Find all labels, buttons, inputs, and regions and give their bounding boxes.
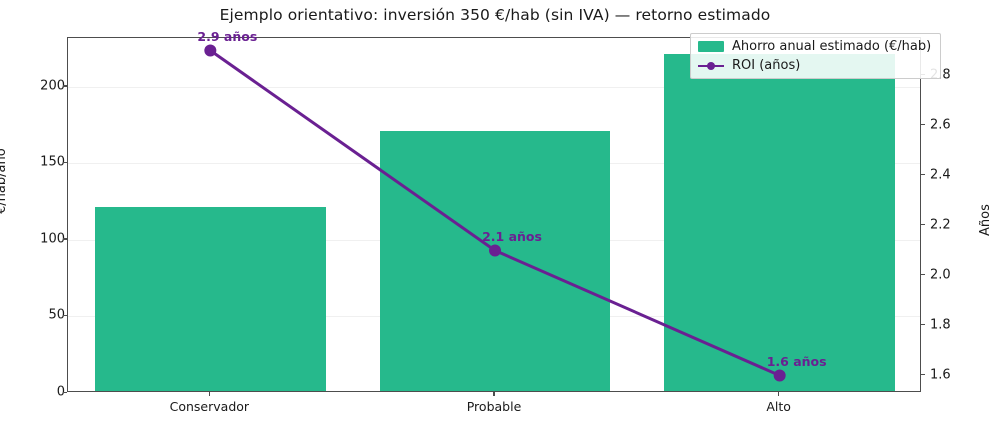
y-axis-left-tick-label: 0	[5, 385, 65, 400]
y-axis-left-tick-mark	[63, 315, 67, 316]
y-axis-left-tick-mark	[63, 85, 67, 86]
x-axis-tick-mark	[209, 392, 210, 396]
legend: Ahorro anual estimado (€/hab) ROI (años)	[690, 33, 941, 79]
x-axis-tick-label: Probable	[467, 399, 522, 414]
roi-annotation: 2.1 años	[482, 229, 542, 244]
y-axis-left-tick-label: 100	[5, 231, 65, 246]
y-axis-left-tick-mark	[63, 238, 67, 239]
legend-item-label: ROI (años)	[732, 58, 800, 73]
y-axis-right-tick-label: 2.6	[930, 117, 980, 132]
x-axis-tick-mark	[778, 392, 779, 396]
legend-item-roi: ROI (años)	[698, 58, 931, 73]
y-axis-right-tick-mark	[921, 324, 925, 325]
y-axis-right-tick-mark	[921, 224, 925, 225]
y-axis-right-tick-label: 2.2	[930, 217, 980, 232]
bar-swatch-icon	[698, 41, 724, 52]
roi-line	[210, 51, 779, 376]
x-axis-tick-mark	[493, 392, 494, 396]
y-axis-left-tick-label: 50	[5, 308, 65, 323]
line-marker-icon	[707, 62, 715, 70]
roi-annotation: 2.9 años	[197, 29, 257, 44]
y-axis-left-tick-mark	[63, 162, 67, 163]
x-axis-tick-label: Alto	[766, 399, 791, 414]
y-axis-left-tick-mark	[63, 392, 67, 393]
y-axis-right-tick-mark	[921, 124, 925, 125]
y-axis-left-label: €/hab/año	[0, 148, 9, 214]
y-axis-right-label: Años	[978, 204, 990, 236]
y-axis-right-tick-mark	[921, 274, 925, 275]
y-axis-right-tick-label: 1.6	[930, 367, 980, 382]
legend-item-label: Ahorro anual estimado (€/hab)	[732, 39, 931, 54]
y-axis-right-tick-label: 1.8	[930, 317, 980, 332]
roi-marker	[204, 45, 216, 57]
y-axis-left-tick-label: 150	[5, 155, 65, 170]
y-axis-right-tick-mark	[921, 374, 925, 375]
line-marker-swatch-icon	[698, 60, 724, 71]
y-axis-right-tick-mark	[921, 174, 925, 175]
legend-item-ahorro: Ahorro anual estimado (€/hab)	[698, 39, 931, 54]
y-axis-left-tick-label: 200	[5, 78, 65, 93]
roi-marker	[774, 370, 786, 382]
y-axis-right-tick-label: 2.4	[930, 167, 980, 182]
chart-figure: Ejemplo orientativo: inversión 350 €/hab…	[0, 0, 990, 428]
chart-title: Ejemplo orientativo: inversión 350 €/hab…	[0, 6, 990, 24]
roi-annotation: 1.6 años	[767, 354, 827, 369]
y-axis-right-tick-label: 2.0	[930, 267, 980, 282]
x-axis-tick-label: Conservador	[170, 399, 249, 414]
plot-area	[67, 37, 921, 392]
roi-line-series	[68, 38, 921, 392]
roi-marker	[489, 245, 501, 257]
